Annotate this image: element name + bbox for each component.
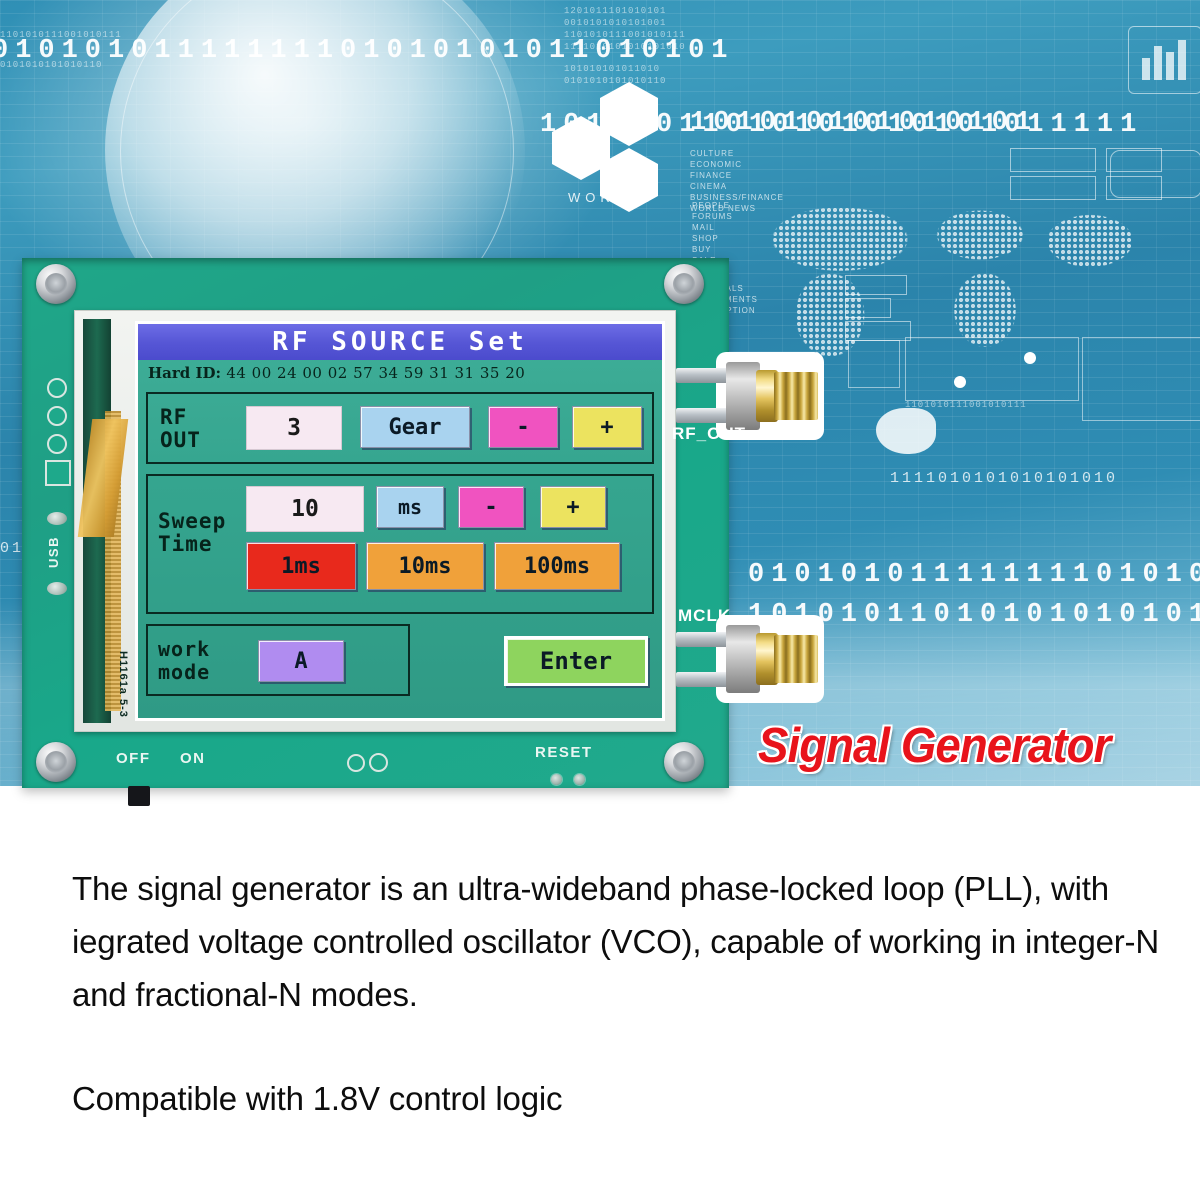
nav-item: FINANCE bbox=[690, 170, 784, 181]
mclk-connector-thread bbox=[774, 635, 818, 683]
rf-out-label-line2: OUT bbox=[160, 429, 201, 452]
work-mode-value-button[interactable]: A bbox=[258, 640, 344, 682]
reset-pad bbox=[551, 774, 562, 785]
worlds-label: WORLDS bbox=[568, 190, 655, 205]
background-chart-panel bbox=[1082, 337, 1200, 421]
sweep-time-minus-button[interactable]: - bbox=[458, 486, 524, 528]
binary-band-top: 01010101111111101010101011010101 bbox=[0, 36, 734, 66]
sweep-time-group: Sweep Time 10 ms - + 1ms 10ms 100ms bbox=[146, 474, 654, 614]
rf-out-gear-button[interactable]: Gear bbox=[360, 406, 470, 448]
work-mode-label: work mode bbox=[158, 638, 210, 684]
hard-id-row: Hard ID: 44 00 24 00 02 57 34 59 31 31 3… bbox=[148, 364, 658, 386]
product-image: 1201011101010101 0010101010101001 110101… bbox=[0, 0, 1200, 1200]
background-ui-box bbox=[845, 275, 907, 295]
work-mode-group: work mode A bbox=[146, 624, 410, 696]
power-switch[interactable] bbox=[128, 786, 150, 806]
product-description: The signal generator is an ultra-wideban… bbox=[72, 862, 1172, 1021]
binary-band-mid-right: 101010101010101 bbox=[690, 108, 1038, 138]
board-pad bbox=[347, 754, 365, 772]
rf-out-minus-button[interactable]: - bbox=[488, 406, 558, 448]
background-ui-box bbox=[1010, 148, 1096, 172]
sweep-time-plus-button[interactable]: + bbox=[540, 486, 606, 528]
board-oval-pad bbox=[47, 512, 67, 525]
nav-item: CULTURE bbox=[690, 148, 784, 159]
rf-out-label: RF OUT bbox=[160, 406, 201, 452]
sweep-time-unit-button[interactable]: ms bbox=[376, 486, 444, 528]
rf-out-label-line1: RF bbox=[160, 406, 201, 429]
sweep-time-label-line2: Time bbox=[158, 533, 226, 556]
rf-out-plus-button[interactable]: + bbox=[572, 406, 642, 448]
mclk-connector-flange bbox=[726, 625, 760, 693]
on-label: ON bbox=[180, 750, 206, 767]
board-pad bbox=[369, 753, 388, 772]
sweep-preset-1ms-button[interactable]: 1ms bbox=[246, 542, 356, 590]
chart-node-dot bbox=[1024, 352, 1036, 364]
reset-label: RESET bbox=[535, 744, 593, 761]
background-ui-box bbox=[845, 321, 911, 341]
work-mode-label-line1: work bbox=[158, 638, 210, 661]
product-description-secondary: Compatible with 1.8V control logic bbox=[72, 1072, 1172, 1125]
usb-silkscreen-label: USB bbox=[46, 536, 61, 568]
off-label: OFF bbox=[116, 750, 151, 767]
rf-out-connector-label: RF_OUT bbox=[672, 424, 746, 444]
background-ui-box bbox=[845, 298, 891, 318]
nav-item: SHOP bbox=[692, 233, 733, 244]
sweep-time-label-line1: Sweep bbox=[158, 510, 226, 533]
nav-item: CINEMA bbox=[690, 181, 784, 192]
lcd-screen: RF SOURCE Set Hard ID: 44 00 24 00 02 57… bbox=[135, 321, 665, 721]
corner-screw bbox=[36, 742, 76, 782]
corner-screw bbox=[664, 742, 704, 782]
lcd-part-number: H1161a 5-3 bbox=[111, 651, 129, 733]
chart-node-dot bbox=[954, 376, 966, 388]
board-oval-pad bbox=[47, 582, 67, 595]
nav-item: FORUMS bbox=[692, 211, 733, 222]
background-chart-panel bbox=[905, 337, 1079, 401]
mclk-connector-label: MCLK bbox=[678, 606, 731, 626]
signal-generator-wordmark: Signal Generator bbox=[758, 718, 1110, 774]
nav-list-people: PEOPLE FORUMS MAIL SHOP BUY SALE bbox=[692, 200, 733, 266]
binary-text-left: 01 bbox=[0, 540, 24, 557]
sweep-preset-100ms-button[interactable]: 100ms bbox=[494, 542, 620, 590]
pcb-board: USB H1161a 5-3 RF SOURCE Set Hard ID: 44… bbox=[22, 258, 729, 788]
corner-screw bbox=[664, 264, 704, 304]
nav-item: BUY bbox=[692, 244, 733, 255]
rf-out-connector-thread bbox=[774, 372, 818, 420]
board-pad bbox=[47, 406, 67, 426]
binary-band-lower: 01010101111111101010101011010101 bbox=[748, 560, 1200, 590]
rf-out-connector-flange bbox=[726, 362, 760, 430]
enter-button[interactable]: Enter bbox=[504, 636, 648, 686]
sweep-preset-10ms-button[interactable]: 10ms bbox=[366, 542, 484, 590]
nav-item: PEOPLE bbox=[692, 200, 733, 211]
rf-out-group: RF OUT 3 Gear - + bbox=[146, 392, 654, 464]
hard-id-label: Hard ID: bbox=[148, 364, 221, 382]
background-ui-box bbox=[1128, 26, 1200, 94]
binary-text-row: 1201011101010101 bbox=[564, 6, 666, 16]
nav-item: MAIL bbox=[692, 222, 733, 233]
rf-out-value-field[interactable]: 3 bbox=[246, 406, 342, 450]
background-ui-box bbox=[1010, 176, 1096, 200]
board-pad-square bbox=[45, 460, 71, 486]
lcd-module: H1161a 5-3 RF SOURCE Set Hard ID: 44 00 … bbox=[74, 310, 676, 732]
reset-pad bbox=[574, 774, 585, 785]
work-mode-label-line2: mode bbox=[158, 661, 210, 684]
background-chart-panel bbox=[848, 340, 900, 388]
sweep-time-label: Sweep Time bbox=[158, 510, 226, 556]
binary-text-row: 0010101010101001 bbox=[564, 18, 666, 28]
screen-title: RF SOURCE Set bbox=[138, 324, 662, 360]
board-pad bbox=[47, 378, 67, 398]
binary-text-right: 1111010101010101010 bbox=[890, 470, 1118, 487]
binary-text-row: 0101010101010110 bbox=[564, 76, 666, 86]
sweep-time-value-field[interactable]: 10 bbox=[246, 486, 364, 532]
australia-shape bbox=[876, 408, 936, 454]
corner-screw bbox=[36, 264, 76, 304]
board-pad bbox=[47, 434, 67, 454]
hard-id-value: 44 00 24 00 02 57 34 59 31 31 35 20 bbox=[226, 364, 525, 382]
background-ui-box bbox=[1110, 150, 1200, 198]
nav-item: ECONOMIC bbox=[690, 159, 784, 170]
